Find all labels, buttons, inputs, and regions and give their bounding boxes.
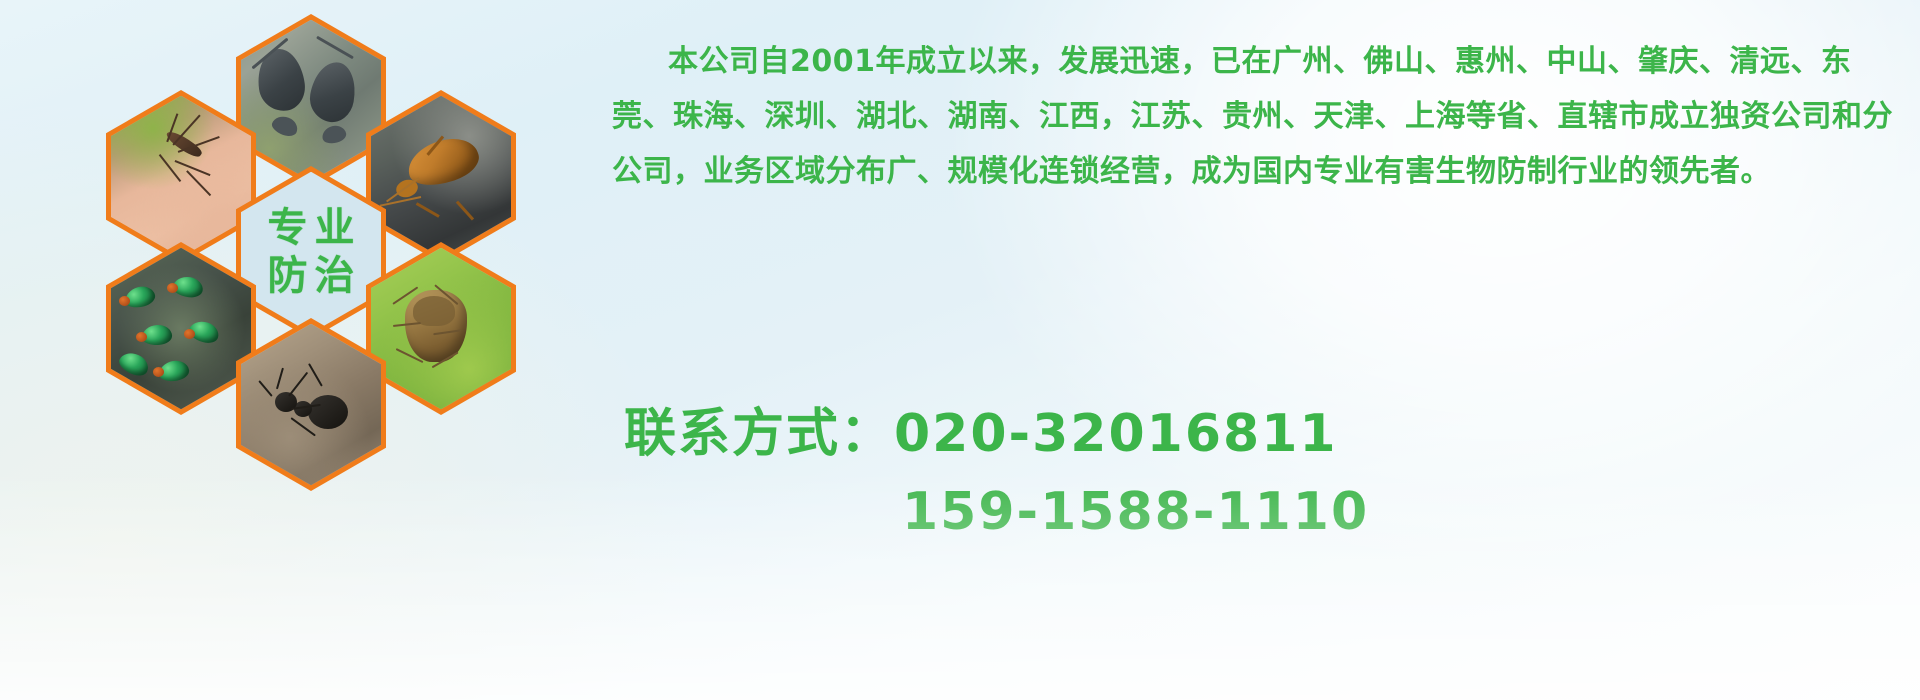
cockroach-artwork (371, 96, 511, 258)
hex-cell-cockroach[interactable] (366, 90, 516, 263)
company-intro-paragraph: 本公司自2001年成立以来，发展迅速，已在广州、佛山、惠州、中山、肇庆、清远、东… (612, 34, 1902, 199)
logo-text: 专业 防治 (241, 172, 381, 334)
logo-line-2: 防治 (261, 253, 362, 300)
hex-cell-logo[interactable]: 专业 防治 (236, 166, 386, 339)
mosquito-artwork (111, 96, 251, 258)
hex-cell-mosquito[interactable] (106, 90, 256, 263)
mosquito-photo (111, 96, 251, 258)
ant-artwork (241, 324, 381, 486)
logo-line-1: 专业 (261, 205, 362, 252)
rats-artwork (241, 20, 381, 182)
flies-photo (111, 248, 251, 410)
logo-hex-inner: 专业 防治 (241, 172, 381, 334)
contact-line-secondary[interactable]: 159-1588-1110 (612, 473, 1902, 551)
pest-control-banner: 专业 防治 (0, 0, 1920, 700)
hex-cell-flies[interactable] (106, 242, 256, 415)
contact-line-primary[interactable]: 联系方式：020-32016811 (612, 395, 1902, 473)
ant-photo (241, 324, 381, 486)
honeycomb-cluster: 专业 防治 (78, 6, 598, 586)
hex-cell-ant[interactable] (236, 318, 386, 491)
stink-bug-photo (371, 248, 511, 410)
rats-photo (241, 20, 381, 182)
cockroach-photo (371, 96, 511, 258)
flies-artwork (111, 248, 251, 410)
hex-cell-stink-bug[interactable] (366, 242, 516, 415)
contact-block: 联系方式：020-32016811 159-1588-1110 (612, 395, 1902, 551)
stink-bug-artwork (371, 248, 511, 410)
hex-cell-rats[interactable] (236, 14, 386, 187)
